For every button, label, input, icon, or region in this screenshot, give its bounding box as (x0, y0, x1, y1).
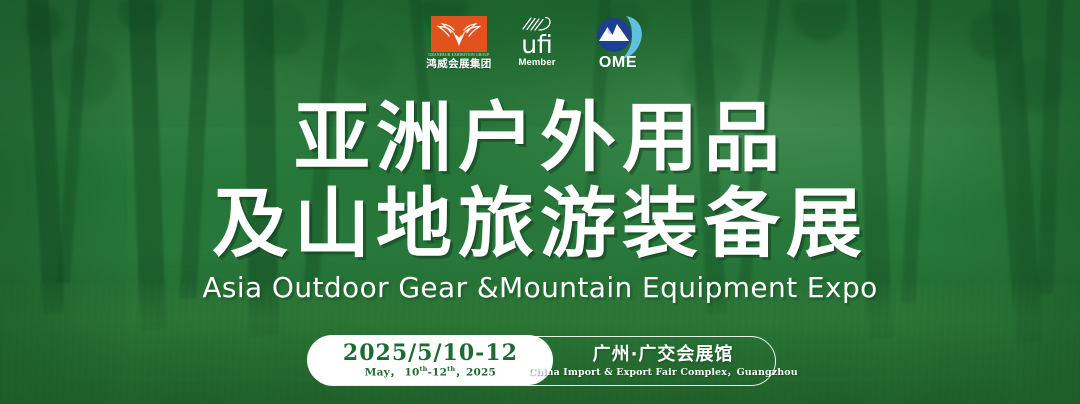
venue-chinese: 广州·广交会展馆 (593, 345, 734, 365)
wings-w-icon (431, 16, 487, 52)
ufi-member-label: Member (518, 57, 555, 68)
date-sub-prefix: May， (365, 366, 401, 378)
grandeur-chinese-label: 鸿威会展集团 (426, 59, 491, 71)
logo-grandeur-exhibition-group: GRANDEUR EXHIBITION GROUP 鸿威会展集团 (431, 16, 487, 70)
title-chinese-line-2: 及山地旅游装备展 (0, 186, 1080, 262)
venue-english: China Import & Export Fair Complex，Guang… (528, 367, 797, 378)
date-sub-day-to: 12 (432, 366, 447, 378)
ufi-wordmark: ufi (521, 33, 553, 56)
date-sub-year: ，2025 (455, 366, 496, 378)
expo-banner: GRANDEUR EXHIBITION GROUP 鸿威会展集团 (0, 0, 1080, 404)
mountain-wave-icon (591, 16, 645, 58)
venue-block: 广州·广交会展馆 China Import & Export Fair Comp… (559, 337, 767, 387)
date-sub-day-from-sup: th (419, 365, 427, 373)
date-pill: 2025/5/10-12 May， 10th-12th，2025 (307, 335, 553, 385)
logo-row: GRANDEUR EXHIBITION GROUP 鸿威会展集团 (0, 16, 1080, 72)
banner-content: GRANDEUR EXHIBITION GROUP 鸿威会展集团 (0, 0, 1080, 404)
date-sub: May， 10th-12th，2025 (365, 366, 496, 379)
logo-ome: OME (587, 16, 649, 72)
date-sub-day-from: 10 (404, 366, 419, 378)
event-info-bar: 2025/5/10-12 May， 10th-12th，2025 广州·广交会展… (308, 336, 776, 386)
logo-ufi-member: ufi Member (509, 16, 565, 68)
title-english: Asia Outdoor Gear &Mountain Equipment Ex… (0, 274, 1080, 302)
ome-wordmark: OME (599, 54, 637, 72)
date-main: 2025/5/10-12 (343, 342, 518, 365)
title-chinese-line-1: 亚洲户外用品 (0, 100, 1080, 176)
